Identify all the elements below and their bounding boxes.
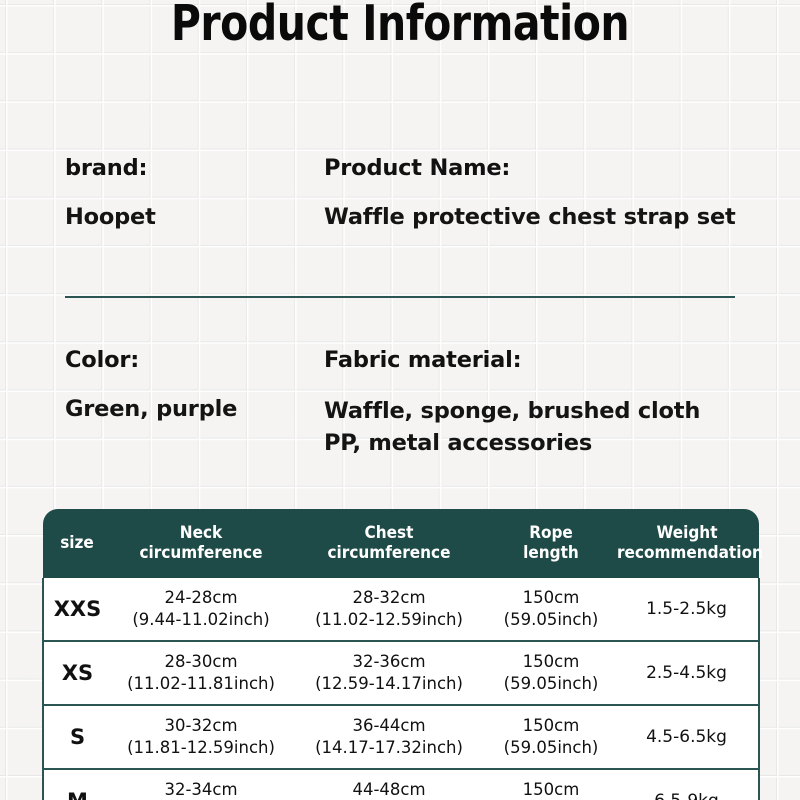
size-chart-table: size Neck circumference Chest circumfere… [42, 509, 760, 800]
size-chart-header: size Neck circumference Chest circumfere… [43, 509, 759, 578]
cell-neck-circumference: 30-32cm(11.81-12.59inch) [111, 705, 291, 769]
table-row: S30-32cm(11.81-12.59inch)36-44cm(14.17-1… [43, 705, 759, 769]
neck-cm: 28-30cm [112, 651, 290, 673]
column-header-neck-line-1: Neck [180, 523, 222, 543]
cell-weight-recommendation: 6.5-9kg [615, 769, 759, 800]
cell-size: S [43, 705, 111, 769]
rope-inch: (59.05inch) [488, 737, 614, 759]
spec-color: Color: Green, purple [65, 347, 237, 422]
fabric-material-line-2: PP, metal accessories [324, 428, 700, 460]
column-header-rope-length: Rope length [487, 509, 615, 578]
fabric-material-value: Waffle, sponge, brushed cloth PP, metal … [324, 396, 700, 460]
table-row: XS28-30cm(11.02-11.81inch)32-36cm(12.59-… [43, 641, 759, 705]
column-header-weight-line-2: recommendation [617, 543, 763, 563]
cell-rope-length: 150cm(59.05inch) [487, 769, 615, 800]
rope-cm: 150cm [488, 779, 614, 800]
column-header-size: size [43, 509, 111, 578]
column-header-weight-recommendation: Weight recommendation [615, 509, 759, 578]
column-header-chest-line-2: circumference [327, 543, 450, 563]
cell-size: M [43, 769, 111, 800]
cell-rope-length: 150cm(59.05inch) [487, 578, 615, 641]
product-information-page: Product Information brand: Hoopet Produc… [0, 0, 800, 800]
color-value: Green, purple [65, 396, 237, 422]
column-header-size-label: size [60, 533, 94, 553]
rope-inch: (59.05inch) [488, 609, 614, 631]
column-header-chest-circumference: Chest circumference [291, 509, 487, 578]
neck-inch: (11.02-11.81inch) [112, 673, 290, 695]
neck-cm: 24-28cm [112, 587, 290, 609]
chest-inch: (11.02-12.59inch) [292, 609, 486, 631]
fabric-material-label: Fabric material: [324, 347, 700, 373]
cell-size: XS [43, 641, 111, 705]
cell-chest-circumference: 28-32cm(11.02-12.59inch) [291, 578, 487, 641]
neck-cm: 32-34cm [112, 779, 290, 800]
chest-inch: (14.17-17.32inch) [292, 737, 486, 759]
column-header-rope-line-2: length [523, 543, 579, 563]
product-name-label: Product Name: [324, 155, 736, 181]
chest-cm: 32-36cm [292, 651, 486, 673]
fabric-material-line-1: Waffle, sponge, brushed cloth [324, 396, 700, 428]
rope-cm: 150cm [488, 587, 614, 609]
cell-size: XXS [43, 578, 111, 641]
table-row: XXS24-28cm(9.44-11.02inch)28-32cm(11.02-… [43, 578, 759, 641]
chest-cm: 36-44cm [292, 715, 486, 737]
neck-inch: (9.44-11.02inch) [112, 609, 290, 631]
color-label: Color: [65, 347, 237, 373]
section-divider [65, 296, 735, 298]
neck-cm: 30-32cm [112, 715, 290, 737]
cell-neck-circumference: 24-28cm(9.44-11.02inch) [111, 578, 291, 641]
cell-rope-length: 150cm(59.05inch) [487, 705, 615, 769]
column-header-neck-line-2: circumference [139, 543, 262, 563]
cell-neck-circumference: 32-34cm(12.59-13.38inch) [111, 769, 291, 800]
rope-cm: 150cm [488, 651, 614, 673]
page-title: Product Information [28, 0, 772, 52]
spec-brand: brand: Hoopet [65, 155, 156, 230]
cell-weight-recommendation: 1.5-2.5kg [615, 578, 759, 641]
product-name-value: Waffle protective chest strap set [324, 204, 736, 230]
cell-chest-circumference: 36-44cm(14.17-17.32inch) [291, 705, 487, 769]
size-chart-body: XXS24-28cm(9.44-11.02inch)28-32cm(11.02-… [43, 578, 759, 800]
cell-weight-recommendation: 4.5-6.5kg [615, 705, 759, 769]
table-header-row: size Neck circumference Chest circumfere… [43, 509, 759, 578]
brand-label: brand: [65, 155, 156, 181]
spec-product-name: Product Name: Waffle protective chest st… [324, 155, 736, 230]
table-row: M32-34cm(12.59-13.38inch)44-48cm(17.32-1… [43, 769, 759, 800]
cell-chest-circumference: 44-48cm(17.32-18.89inch) [291, 769, 487, 800]
brand-value: Hoopet [65, 204, 156, 230]
column-header-neck-circumference: Neck circumference [111, 509, 291, 578]
neck-inch: (11.81-12.59inch) [112, 737, 290, 759]
spec-fabric-material: Fabric material: Waffle, sponge, brushed… [324, 347, 700, 460]
cell-neck-circumference: 28-30cm(11.02-11.81inch) [111, 641, 291, 705]
chest-cm: 28-32cm [292, 587, 486, 609]
cell-rope-length: 150cm(59.05inch) [487, 641, 615, 705]
chest-inch: (12.59-14.17inch) [292, 673, 486, 695]
rope-inch: (59.05inch) [488, 673, 614, 695]
column-header-weight-line-1: Weight [656, 523, 717, 543]
cell-weight-recommendation: 2.5-4.5kg [615, 641, 759, 705]
column-header-chest-line-1: Chest [365, 523, 414, 543]
column-header-rope-line-1: Rope [529, 523, 573, 543]
chest-cm: 44-48cm [292, 779, 486, 800]
rope-cm: 150cm [488, 715, 614, 737]
cell-chest-circumference: 32-36cm(12.59-14.17inch) [291, 641, 487, 705]
